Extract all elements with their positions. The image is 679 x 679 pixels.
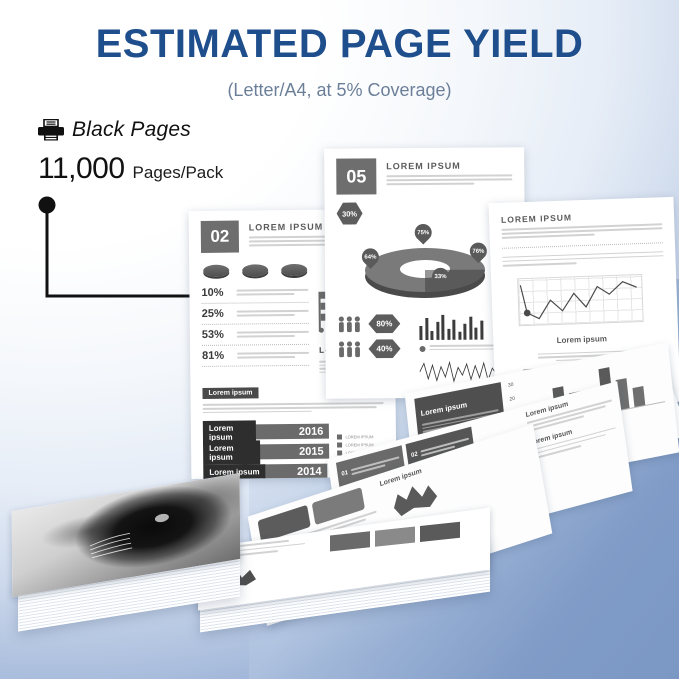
page-subtitle: (Letter/A4, at 5% Coverage)	[0, 80, 679, 101]
printer-icon	[38, 119, 64, 141]
timeline-row: Lorem ipsum 2015	[203, 444, 330, 460]
doc02-percent-value: 53%	[202, 329, 230, 341]
doc02-tag: Lorem ipsum	[202, 388, 258, 400]
timeline-label: Lorem ipsum	[203, 440, 261, 465]
yield-value-row: 11,000 Pages/Pack	[38, 152, 223, 186]
timeline-year: 2015	[299, 445, 324, 457]
doc02-number-badge: 02	[201, 221, 239, 253]
page-title: ESTIMATED PAGE YIELD	[0, 22, 679, 67]
docR-heading: LOREM IPSUM	[501, 209, 662, 225]
timeline-row: Lorem ipsum 2016	[203, 424, 330, 440]
doc02-percent-row: 10%	[201, 282, 308, 304]
people-icon	[337, 315, 363, 333]
docR-body-lines-2	[502, 251, 663, 266]
doc05-heading: LOREM IPSUM	[386, 160, 512, 171]
doc02-percent-value: 25%	[202, 308, 230, 320]
doc05-people-column: 80% 40%	[337, 314, 412, 399]
yield-unit: Pages/Pack	[133, 163, 224, 183]
black-pages-yield-block: Black Pages 11,000 Pages/Pack	[38, 118, 223, 186]
doc02-percent-value: 81%	[202, 350, 230, 362]
doc05-people-badge: 40%	[368, 339, 400, 358]
doc05-people-badge: 80%	[368, 314, 400, 333]
doc05-donut-chart: 75% 64% 76% 33%	[350, 229, 500, 300]
doc02-percent-row: 25%	[202, 303, 309, 325]
fan-number: 02	[411, 451, 418, 459]
fan-number: 01	[341, 470, 348, 478]
people-icon	[337, 340, 363, 358]
doc02-percent-value: 10%	[201, 287, 229, 299]
docR-body-lines	[501, 223, 662, 238]
doc05-corner-tag: 30%	[337, 202, 363, 224]
fan-axis-label: 20	[509, 396, 515, 403]
coin-shape	[242, 264, 268, 276]
legend-label: LOREM IPSUM	[345, 434, 373, 439]
timeline-year: 2016	[299, 425, 324, 437]
doc05-number-badge: 05	[336, 158, 376, 194]
docR-line-chart	[517, 274, 644, 326]
coin-shape	[203, 265, 229, 277]
yield-value: 11,000	[38, 152, 125, 186]
black-pages-row: Black Pages	[38, 118, 223, 142]
fan-block-title: Lorem ipsum	[420, 400, 467, 418]
docR-chart-caption: Lorem ipsum	[557, 334, 608, 345]
black-pages-label: Black Pages	[72, 118, 191, 142]
doc02-timeline: Lorem ipsum 2016 Lorem ipsum 2015 Lorem …	[203, 419, 330, 479]
page-yield-infographic: ESTIMATED PAGE YIELD (Letter/A4, at 5% C…	[0, 0, 679, 679]
doc02-percent-row: 81%	[202, 345, 309, 367]
doc05-body-lines	[386, 174, 512, 185]
doc02-percent-list: 10% 25% 53% 81%	[201, 282, 309, 374]
coin-shape	[281, 264, 307, 276]
fan-axis-label: 30	[508, 382, 514, 389]
doc02-footer-lines	[203, 402, 384, 413]
doc02-percent-row: 53%	[202, 324, 309, 346]
timeline-year: 2014	[297, 465, 322, 477]
